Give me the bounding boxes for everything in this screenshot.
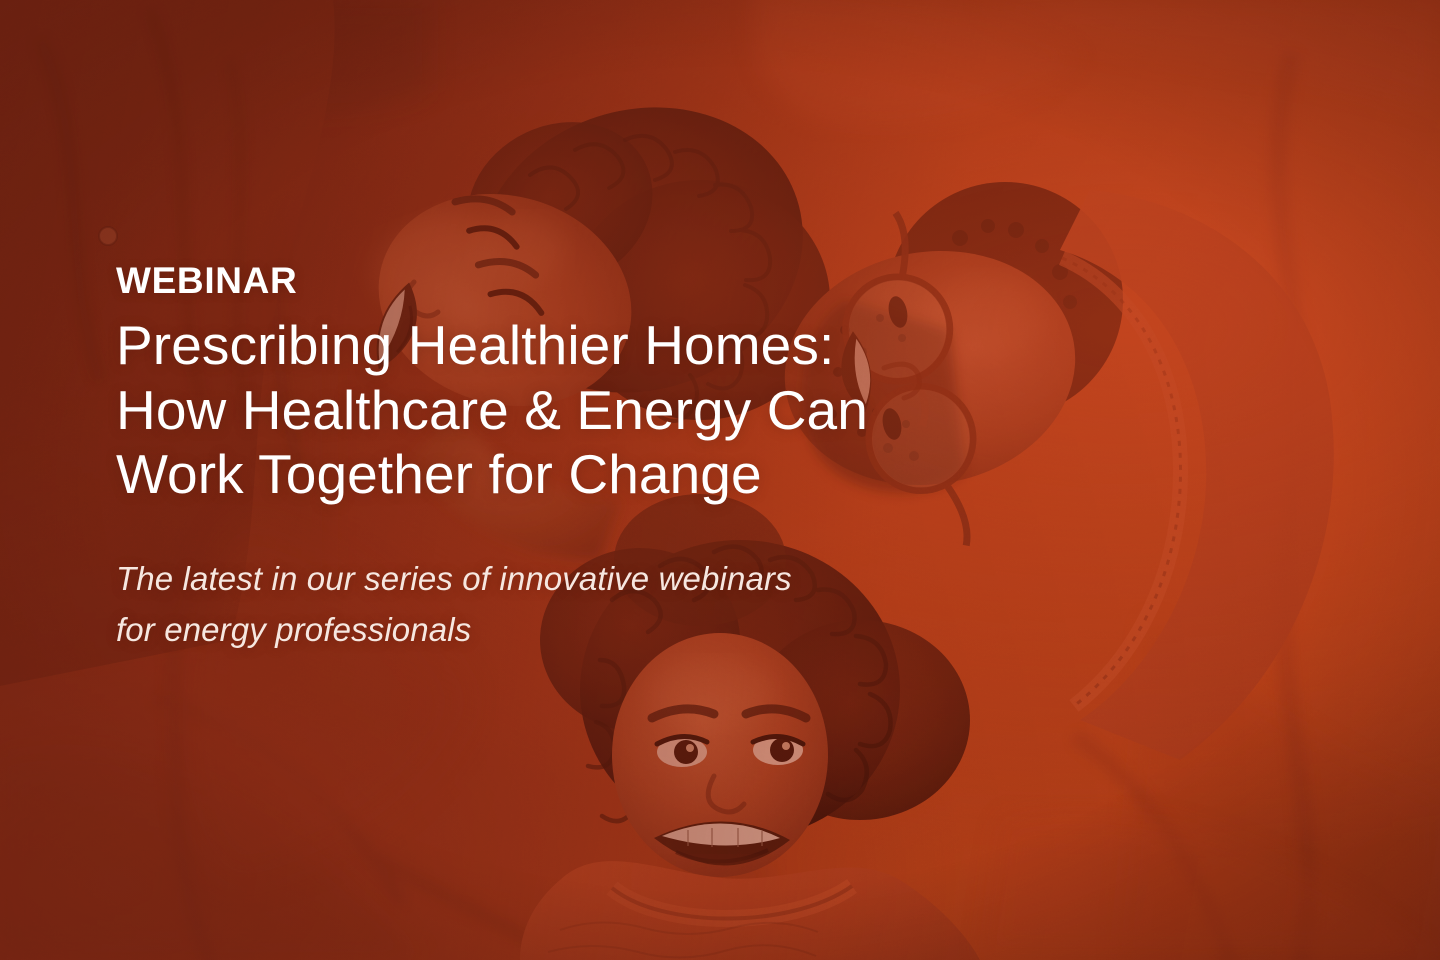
page-title: Prescribing Healthier Homes: How Healthc… — [116, 313, 1136, 507]
banner-text-block: WEBINAR Prescribing Healthier Homes: How… — [116, 262, 1136, 655]
headline-line-2: How Healthcare & Energy Can — [116, 378, 1136, 443]
headline-line-1: Prescribing Healthier Homes: — [116, 313, 1136, 378]
subtitle: The latest in our series of innovative w… — [116, 553, 1136, 655]
subtitle-line-1: The latest in our series of innovative w… — [116, 553, 1136, 604]
eyebrow-label: WEBINAR — [116, 262, 1136, 299]
subtitle-line-2: for energy professionals — [116, 604, 1136, 655]
headline-line-3: Work Together for Change — [116, 442, 1136, 507]
webinar-banner: WEBINAR Prescribing Healthier Homes: How… — [0, 0, 1440, 960]
